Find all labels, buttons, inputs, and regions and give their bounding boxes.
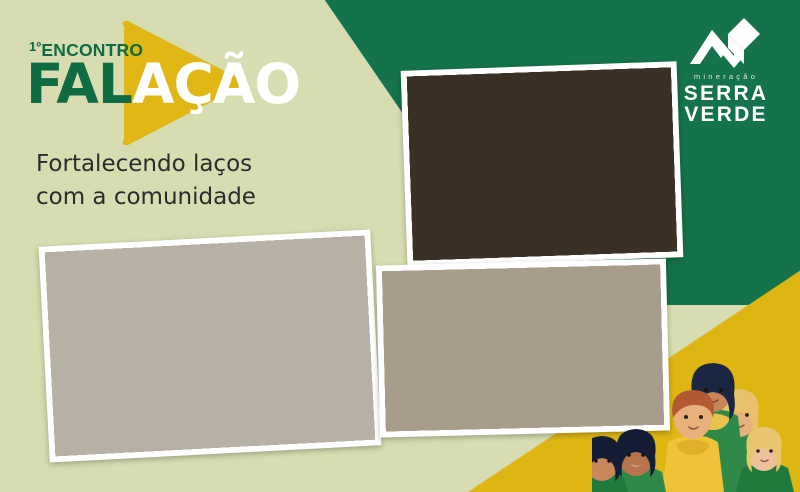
photo-presentation-room	[401, 61, 684, 267]
event-wordmark: FALAÇÃO	[26, 57, 300, 112]
subtitle-line-1: Fortalecendo laços	[36, 148, 316, 181]
brand-name-verde: VERDE	[672, 104, 780, 125]
wordmark-acao: AÇÃO	[132, 52, 300, 116]
poster-canvas: 1ºENCONTRO FALAÇÃO Fortalecendo laços co…	[0, 0, 800, 492]
photo-community-hall	[39, 229, 382, 462]
wordmark-fal: FAL	[26, 52, 132, 116]
brand-logo: mineração SERRA VERDE	[672, 16, 780, 126]
community-people-illustration	[592, 360, 800, 492]
brand-name-serra: SERRA	[672, 83, 780, 104]
subtitle-line-2: com a comunidade	[36, 181, 316, 214]
mountain-n-icon	[688, 16, 764, 68]
poster-subtitle: Fortalecendo laços com a comunidade	[36, 148, 316, 213]
brand-tagline: mineração	[672, 72, 780, 81]
